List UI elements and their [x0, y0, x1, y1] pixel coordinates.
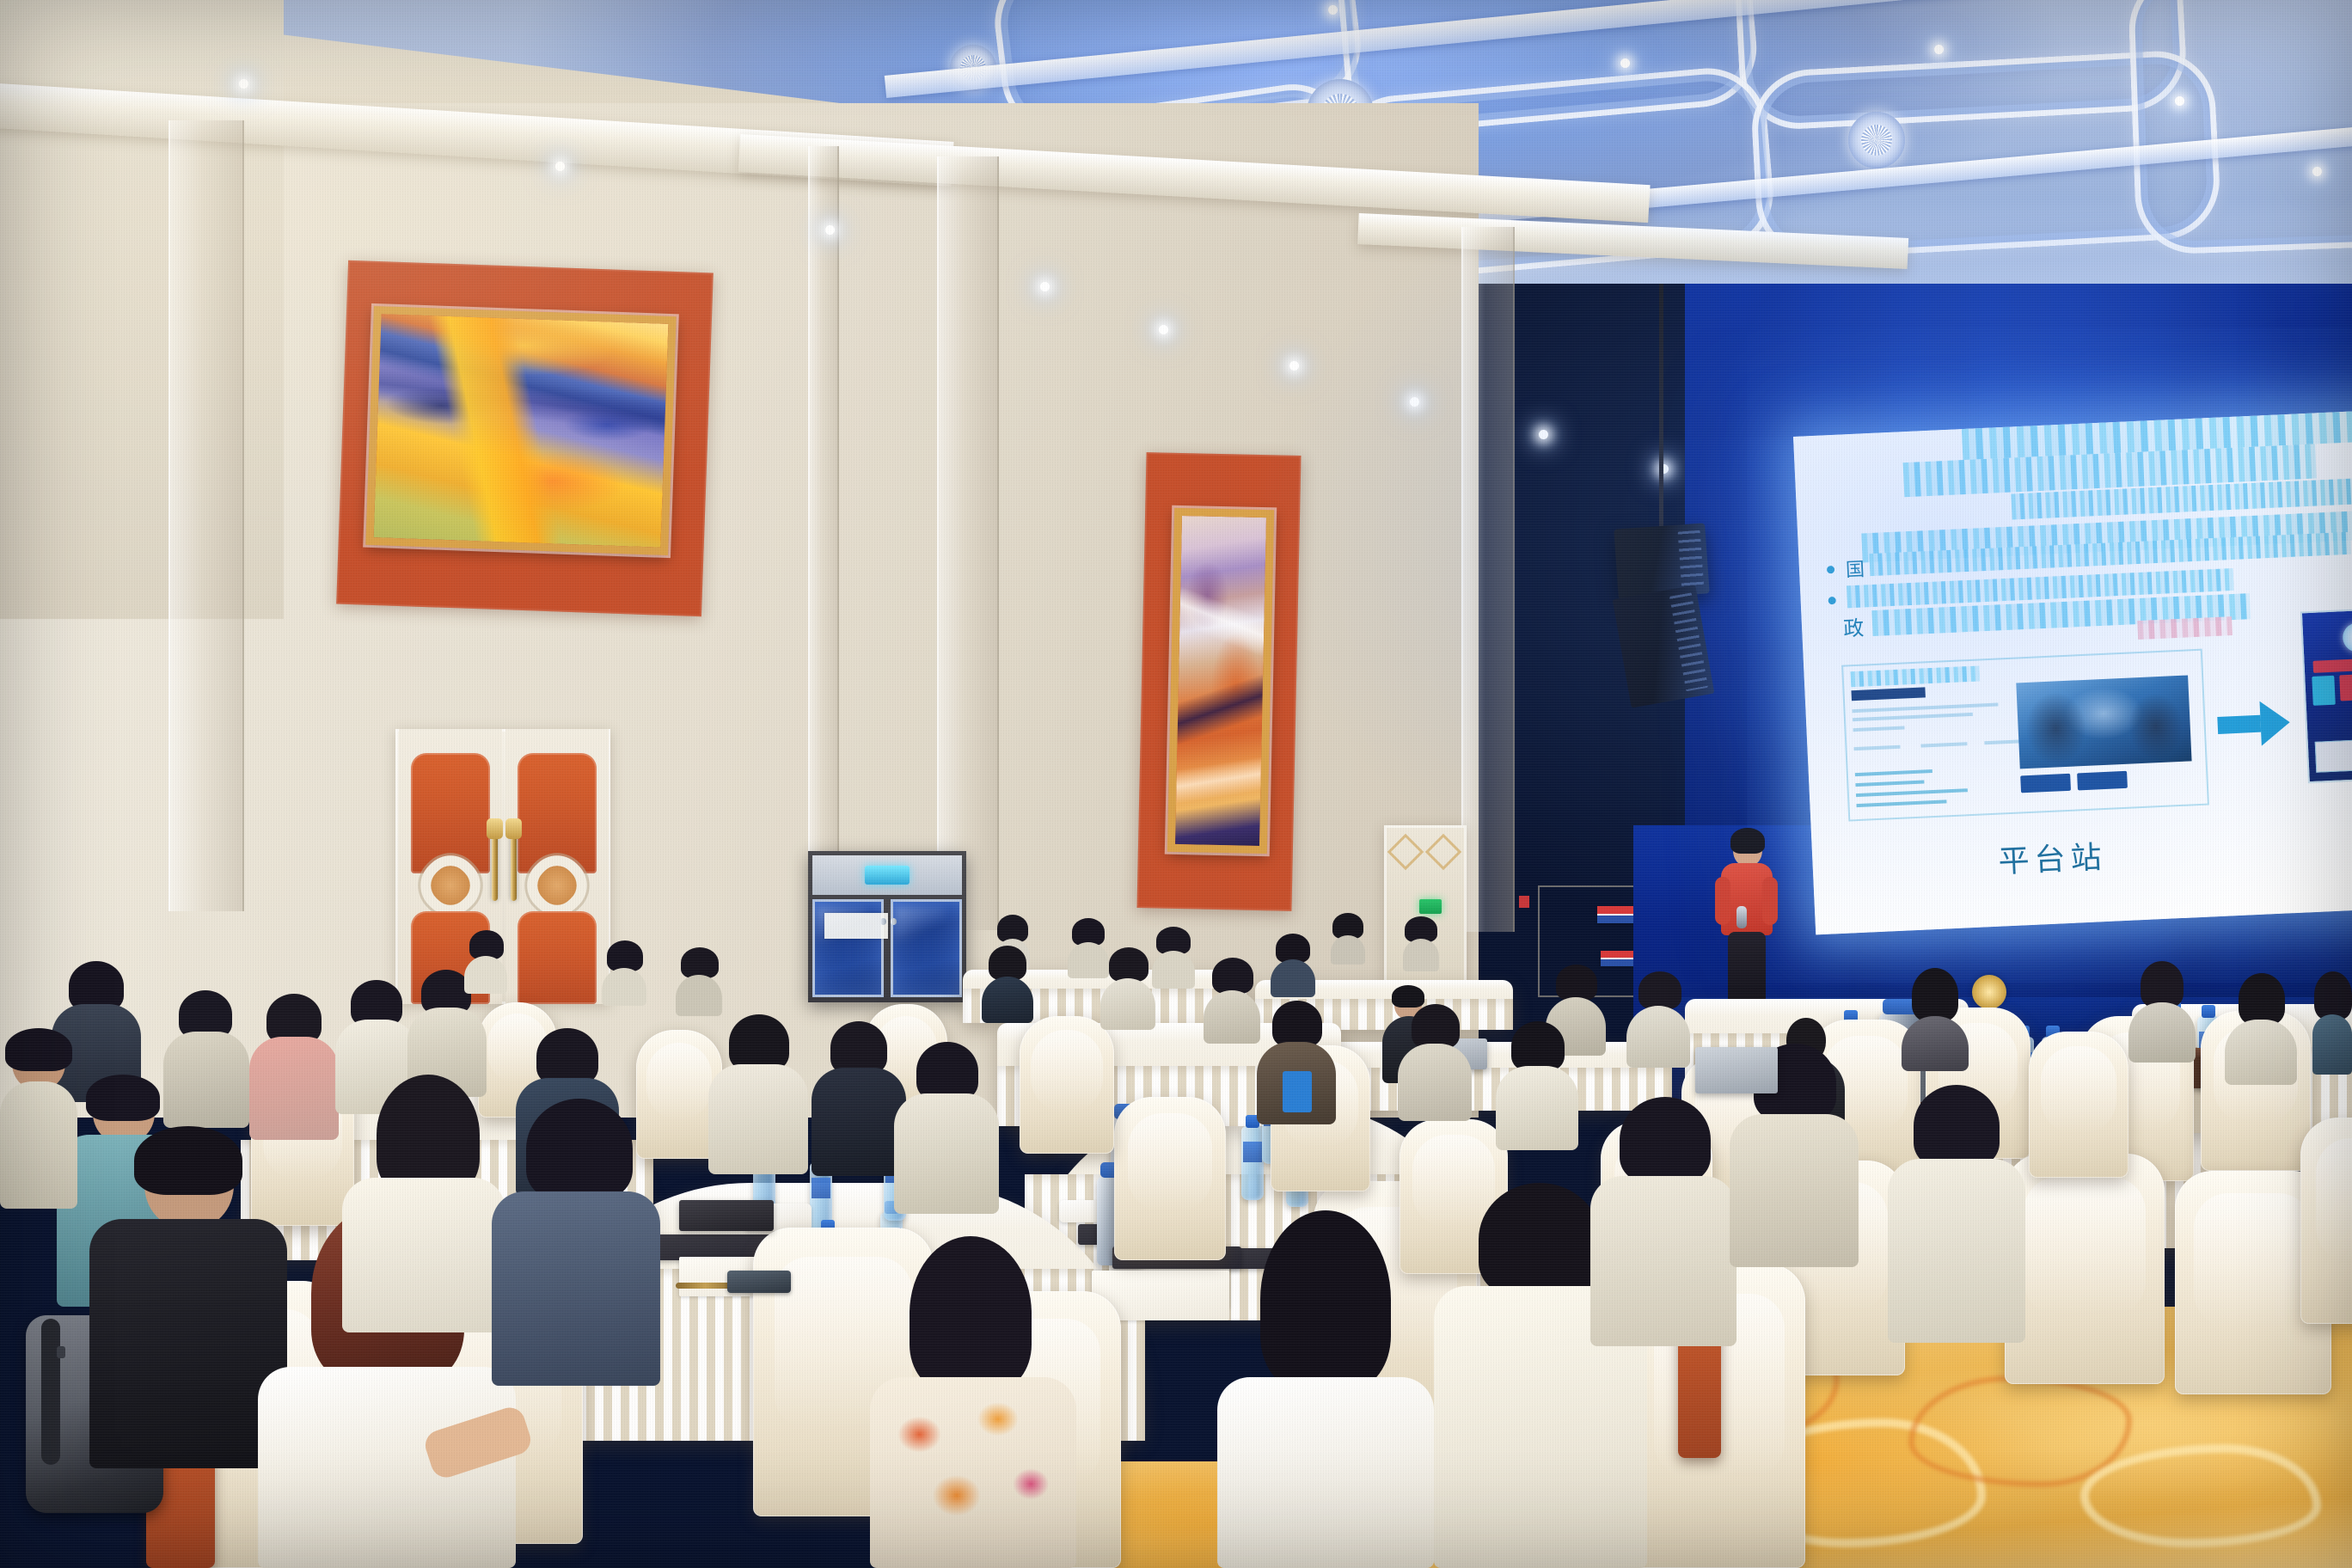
- slide-cjk-fragment: 政: [1842, 611, 1865, 642]
- hair: [830, 1021, 887, 1075]
- torso: [1590, 1176, 1736, 1346]
- hair: [526, 1099, 633, 1200]
- hair: [469, 930, 504, 959]
- fridge-handle-left[interactable]: [880, 918, 886, 925]
- door-panel: [411, 753, 490, 873]
- card-line: [1853, 745, 1900, 750]
- torso: [464, 956, 507, 994]
- torso: [870, 1377, 1076, 1568]
- phone-red-banner: [2312, 658, 2352, 673]
- hair: [1212, 958, 1253, 994]
- slide-flow-arrow-shaft: [2217, 715, 2261, 734]
- door-diamond-ornament: [1425, 834, 1461, 870]
- wall-pilaster: [808, 146, 839, 860]
- slide-flow-arrow-head: [2260, 700, 2291, 745]
- ceiling-downlight: [1620, 58, 1630, 68]
- hair: [1912, 968, 1958, 1021]
- card-badge: [1851, 687, 1925, 701]
- hair: [536, 1028, 598, 1085]
- attendee: [464, 930, 507, 994]
- presenter: [1711, 832, 1783, 1021]
- backpack-strap: [41, 1319, 60, 1465]
- presenter-arm-left: [1715, 877, 1730, 925]
- wall-downlight: [555, 162, 565, 171]
- torso: [1626, 1006, 1690, 1068]
- hair: [1511, 1021, 1565, 1071]
- lanyard-badge: [1283, 1071, 1312, 1112]
- torso: [1068, 942, 1109, 978]
- backpack-zipper: [57, 1346, 65, 1358]
- attendee: [1496, 1021, 1578, 1150]
- ballroom-photo: 国 政: [0, 0, 2352, 1568]
- door-handle[interactable]: [511, 834, 517, 901]
- wall-pilaster: [937, 156, 999, 930]
- hair: [729, 1014, 789, 1071]
- attendee-laptop[interactable]: [1695, 1047, 1778, 1093]
- ceiling-downlight: [2175, 96, 2184, 106]
- presenter-hair: [1730, 828, 1765, 854]
- slide-mobile-card: [2300, 607, 2352, 784]
- torso: [492, 1191, 660, 1386]
- ceiling-medallion: [1848, 112, 1905, 168]
- torso: [1398, 1044, 1472, 1121]
- phone-logo-circle: [2343, 622, 2352, 653]
- torso: [602, 968, 646, 1006]
- attendee: [1590, 1097, 1736, 1346]
- speaker-grille: [1678, 530, 1705, 589]
- hair: [916, 1042, 978, 1100]
- phone-promo-banner: [2339, 672, 2352, 701]
- ceiling-downlight: [1328, 5, 1338, 15]
- water-bottle[interactable]: [1241, 1126, 1264, 1200]
- hair: [1556, 965, 1597, 1001]
- fridge-header-panel: [812, 855, 962, 895]
- hair: [1620, 1097, 1711, 1183]
- attendee: [1888, 1085, 2025, 1343]
- attendee: [708, 1014, 808, 1174]
- hair: [1272, 1001, 1322, 1047]
- banquet-chair[interactable]: [1020, 1016, 1114, 1154]
- card-action-button[interactable]: [2020, 774, 2071, 793]
- torso: [812, 1068, 906, 1176]
- slide-cjk-fragment: 国: [1845, 554, 1865, 582]
- emergency-exit-sign: [1419, 899, 1442, 914]
- card-line: [1852, 703, 1998, 714]
- hair: [5, 1028, 72, 1071]
- phone-blue-banner: [2312, 676, 2336, 706]
- torso: [894, 1093, 999, 1214]
- slide-content: 国 政: [1793, 410, 2352, 935]
- attendee: [1152, 927, 1195, 989]
- hair: [1914, 1085, 2000, 1167]
- banquet-chair[interactable]: [2005, 1154, 2165, 1384]
- torso: [708, 1064, 808, 1174]
- torso: [1730, 1114, 1859, 1267]
- torso: [1888, 1159, 2025, 1343]
- door-leaf-right[interactable]: [505, 729, 609, 1004]
- door-panel: [518, 911, 597, 1004]
- door-panel: [518, 753, 597, 873]
- attendee: [2312, 971, 2352, 1075]
- hair: [989, 946, 1026, 980]
- slide-caption: 平台站: [1997, 832, 2107, 882]
- banquet-chair[interactable]: [2029, 1032, 2128, 1178]
- slide-webpage-card: [1841, 649, 2209, 822]
- torso: [1902, 1016, 1969, 1071]
- torso: [1204, 990, 1260, 1044]
- attendee: [602, 940, 646, 1006]
- attendee: [2223, 973, 2299, 1085]
- wall-downlight: [1040, 282, 1050, 291]
- attendee: [812, 1021, 906, 1176]
- attendee: [1271, 934, 1315, 997]
- fridge-display-panel: [865, 866, 910, 885]
- attendee-laptop[interactable]: [679, 1200, 774, 1231]
- wall-pilaster: [1461, 227, 1515, 932]
- attendee: [1217, 1210, 1434, 1568]
- microphone: [1736, 906, 1747, 928]
- torso: [982, 977, 1033, 1023]
- hair: [1479, 1183, 1601, 1296]
- hair: [1638, 971, 1681, 1009]
- speaker-suspension-cable: [1659, 284, 1663, 542]
- card-list-item: [1855, 781, 1924, 787]
- mobile-phone[interactable]: [727, 1271, 791, 1293]
- attendee: [894, 1042, 999, 1214]
- card-line: [1920, 742, 1967, 747]
- ceiling-coffer: [2127, 0, 2352, 255]
- ceiling-downlight: [2312, 167, 2322, 176]
- card-header-redacted: [1850, 665, 1980, 687]
- hair: [910, 1236, 1032, 1391]
- fire-alarm-marker: [1519, 896, 1529, 908]
- hair: [681, 947, 719, 978]
- fridge-door-right[interactable]: [891, 899, 962, 997]
- hair: [1412, 1004, 1460, 1049]
- fridge-handle-right[interactable]: [891, 918, 897, 925]
- beverage-refrigerator[interactable]: [808, 851, 966, 1002]
- phone-bottom-panel: [2315, 738, 2352, 773]
- attendee: [982, 946, 1033, 1023]
- door-handle[interactable]: [492, 834, 498, 901]
- door-diamond-ornament: [1387, 834, 1424, 870]
- slide-bullet-dot: [1827, 566, 1834, 573]
- abstract-landscape-painting: [365, 306, 676, 555]
- attendee: [1398, 1004, 1472, 1121]
- hair: [377, 1075, 480, 1195]
- wall-pilaster: [168, 120, 244, 911]
- attendee: [492, 1102, 660, 1386]
- wall-downlight: [1539, 430, 1548, 439]
- card-line: [1853, 713, 1973, 721]
- wall-downlight: [239, 79, 248, 89]
- hair: [1276, 934, 1310, 963]
- torso: [1271, 959, 1315, 997]
- attendee: [0, 1028, 77, 1209]
- torso: [2312, 1014, 2352, 1075]
- torso: [1217, 1377, 1434, 1568]
- attendee: [249, 994, 339, 1140]
- attendee: [1403, 916, 1439, 971]
- attendee: [676, 947, 722, 1016]
- wall-downlight: [825, 225, 835, 235]
- card-photo-thumbnail: [2016, 675, 2191, 769]
- torso: [1100, 978, 1155, 1030]
- attendee: [342, 1075, 505, 1332]
- attendee-lanyard-badge: [1257, 1001, 1336, 1124]
- banquet-chair[interactable]: [2300, 1118, 2352, 1324]
- wall-downlight: [1289, 361, 1299, 371]
- attendee: [1331, 913, 1365, 965]
- hair: [2141, 961, 2184, 1008]
- attendee: [1068, 918, 1109, 978]
- wall-downlight: [1159, 325, 1168, 334]
- torso: [1152, 951, 1195, 989]
- card-list-item: [1855, 769, 1932, 776]
- torso: [2225, 1020, 2297, 1085]
- torso: [249, 1037, 339, 1140]
- attendee: [1204, 958, 1260, 1044]
- hair: [2314, 971, 2352, 1020]
- hair: [86, 1075, 160, 1121]
- card-line: [1853, 726, 1904, 732]
- card-action-button[interactable]: [2077, 771, 2128, 791]
- abstract-vertical-painting: [1167, 508, 1274, 854]
- hair: [134, 1126, 242, 1195]
- attendee-floral-blouse: [870, 1236, 1076, 1568]
- torso: [0, 1081, 77, 1209]
- torso: [342, 1178, 505, 1332]
- attendee: [2128, 961, 2196, 1063]
- presentation-screen: 国 政: [1793, 410, 2352, 935]
- hair: [2239, 973, 2285, 1025]
- torso: [2128, 1002, 2196, 1063]
- slide-note-redacted: [2137, 616, 2233, 640]
- torso: [1496, 1066, 1578, 1150]
- card-list-item: [1856, 788, 1968, 797]
- hair: [607, 940, 643, 971]
- attendee: [1898, 968, 1972, 1071]
- torso: [1403, 939, 1439, 971]
- ceiling-downlight: [1934, 45, 1944, 54]
- hair: [1260, 1210, 1391, 1389]
- torso: [676, 975, 722, 1016]
- hair: [1109, 947, 1148, 982]
- presenter-arm-right: [1762, 877, 1778, 925]
- fridge-door-left[interactable]: [812, 899, 884, 997]
- banquet-chair[interactable]: [1114, 1097, 1226, 1260]
- torso: [1331, 935, 1365, 965]
- wall-downlight: [1410, 397, 1419, 407]
- slide-bullet-dot: [1828, 597, 1835, 604]
- attendee: [1626, 971, 1690, 1068]
- fridge-info-label: [824, 913, 888, 939]
- card-list-item: [1856, 799, 1946, 807]
